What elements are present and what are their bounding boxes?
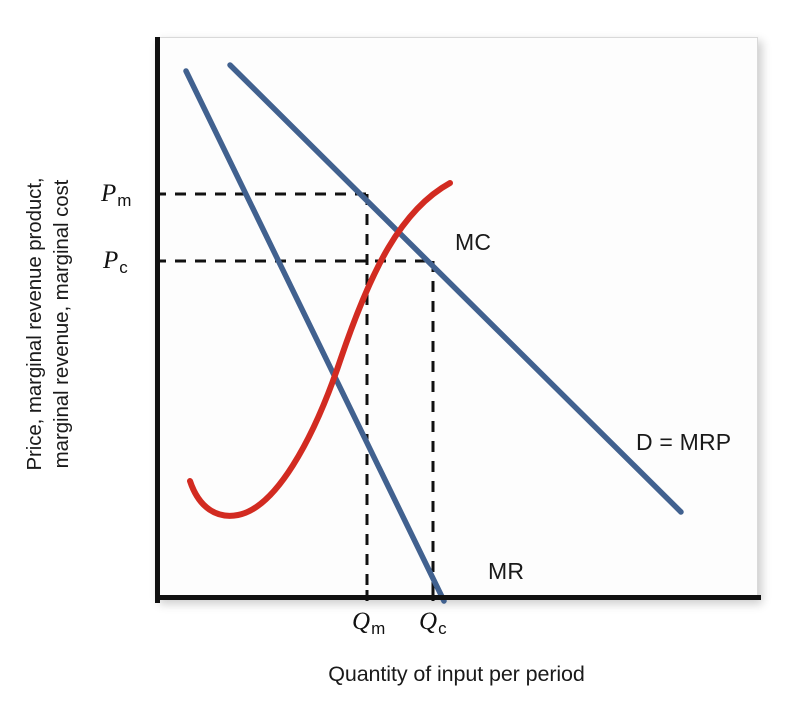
y-axis-title-line-2: marginal revenue, marginal cost — [48, 180, 75, 469]
y-axis-spine — [155, 37, 160, 603]
monopsony-input-market-chart: Price, marginal revenue product, margina… — [0, 0, 798, 703]
y-axis-title: Price, marginal revenue product, margina… — [18, 44, 78, 604]
y-tick-label-pm: Pm — [101, 180, 131, 211]
x-axis-spine — [155, 595, 761, 600]
x-tick-label-qc: Qc — [419, 608, 447, 639]
qc-symbol: Q — [419, 608, 437, 635]
pc-subscript: c — [119, 258, 128, 277]
pm-subscript: m — [117, 191, 131, 210]
curve-label-mc: MC — [455, 229, 491, 256]
x-axis-title: Quantity of input per period — [155, 662, 758, 687]
qm-symbol: Q — [352, 608, 370, 635]
curve-label-mr: MR — [488, 558, 524, 585]
plot-area: MC MR D = MRP — [155, 37, 758, 600]
x-tick-label-qm: Qm — [352, 608, 385, 639]
qm-subscript: m — [371, 619, 385, 638]
y-axis-title-line-1: Price, marginal revenue product, — [21, 177, 48, 470]
curve-label-d-mrp: D = MRP — [636, 429, 731, 456]
pm-symbol: P — [101, 180, 116, 207]
qc-subscript: c — [438, 619, 447, 638]
demand-mrp-line — [230, 65, 681, 512]
pc-symbol: P — [103, 247, 118, 274]
y-tick-label-pc: Pc — [103, 247, 128, 278]
chart-canvas — [155, 38, 758, 601]
